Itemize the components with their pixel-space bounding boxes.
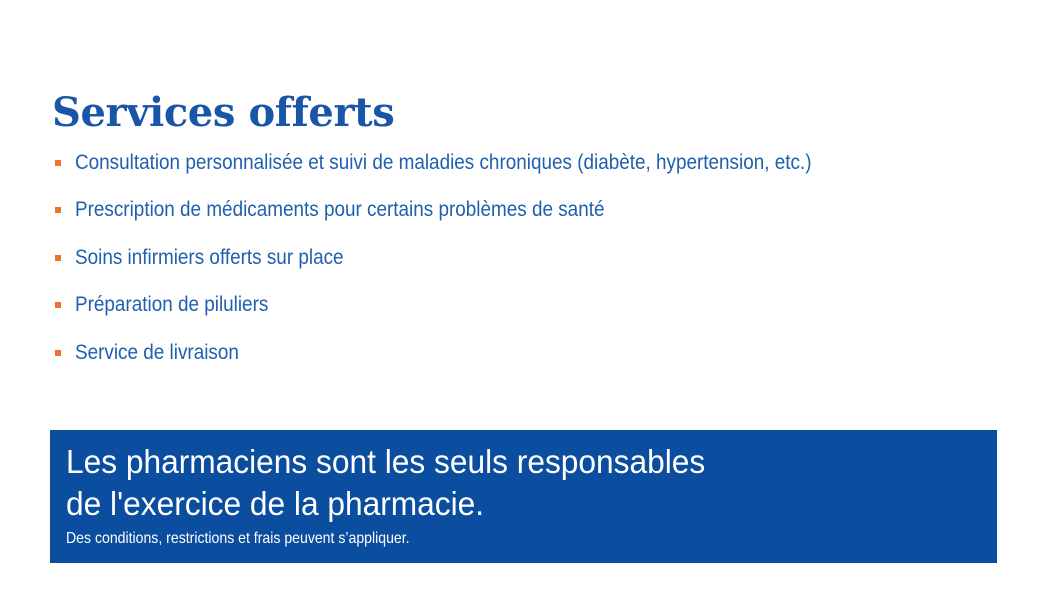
disclaimer-headline-line-1: Les pharmaciens sont les seuls responsab… <box>66 441 941 483</box>
slide-canvas: Services offerts Consultation personnali… <box>0 0 1050 600</box>
disclaimer-headline: Les pharmaciens sont les seuls responsab… <box>66 441 941 525</box>
disclaimer-headline-line-2: de l'exercice de la pharmacie. <box>66 483 941 525</box>
list-item-label: Service de livraison <box>75 340 239 366</box>
page-title: Services offerts <box>52 89 394 137</box>
services-bullet-list: Consultation personnalisée et suivi de m… <box>52 139 1032 377</box>
list-item: Soins infirmiers offerts sur place <box>52 234 1032 282</box>
square-bullet-icon <box>55 160 61 166</box>
list-item: Service de livraison <box>52 329 1032 377</box>
disclaimer-banner: Les pharmaciens sont les seuls responsab… <box>50 430 997 563</box>
list-item: Préparation de piluliers <box>52 282 1032 330</box>
square-bullet-icon <box>55 350 61 356</box>
list-item: Prescription de médicaments pour certain… <box>52 187 1032 235</box>
list-item-label: Consultation personnalisée et suivi de m… <box>75 150 811 176</box>
list-item-label: Soins infirmiers offerts sur place <box>75 245 344 271</box>
disclaimer-subline: Des conditions, restrictions et frais pe… <box>66 529 868 549</box>
square-bullet-icon <box>55 207 61 213</box>
square-bullet-icon <box>55 255 61 261</box>
list-item-label: Prescription de médicaments pour certain… <box>75 197 604 223</box>
list-item: Consultation personnalisée et suivi de m… <box>52 139 1032 187</box>
list-item-label: Préparation de piluliers <box>75 292 268 318</box>
square-bullet-icon <box>55 302 61 308</box>
